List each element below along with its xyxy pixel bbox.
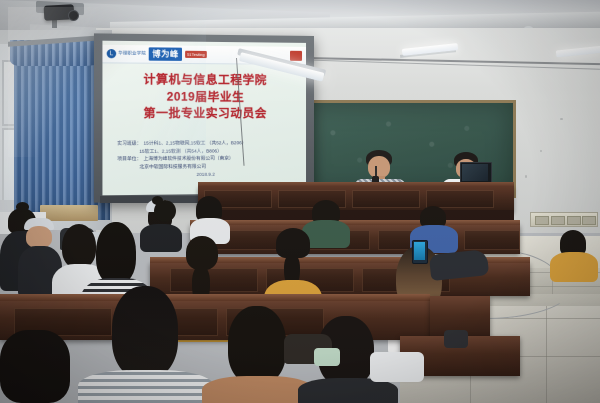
slide-body-value: 北京中软国际科技服务有限公司 [139,162,206,170]
socket-icon[interactable] [567,216,581,225]
wall-socket-strip[interactable] [530,212,598,227]
slide-body-label: 项目单位： [117,155,141,163]
slide-body-row: 北京中软国际科技服务有限公司 [117,162,298,171]
hair-long [62,224,96,268]
slide-body-label: 实习班级： [117,140,141,148]
slide-title-line-2: 2019届毕业生 [102,89,306,107]
partner-logo-label: 博为峰 [149,47,182,61]
hair [228,306,286,384]
slide-title-line-3: 第一批专业实习动员会 [102,106,306,123]
wall-speck [525,175,527,178]
socket-icon[interactable] [551,216,565,225]
head-table [198,186,514,212]
projector-lens-icon [68,10,79,21]
table-panel [352,190,420,208]
laptop-display [462,164,488,181]
slide-date: 2018.9.2 [102,171,306,178]
university-logo-mark: L [107,49,117,58]
slide-title-line-1: 计算机与信息工程学院 [102,72,306,90]
shoulders-yellow-top [550,252,598,282]
university-logo-label: 华理职业学院 [118,51,146,56]
bench-panel [464,230,520,250]
head [368,156,390,178]
hair-long [112,286,178,378]
lecture-hall-photo: L 华理职业学院 博为峰 51Testing 计算机与信息工程学院 2019届毕… [0,0,600,403]
hair-bun-icon [152,196,163,205]
partner-logo-sublabel: 51Testing [185,51,207,58]
hair-long [96,222,136,284]
head [26,226,52,248]
folded-cloth [314,348,340,366]
hair [186,236,218,270]
white-bag [370,352,424,382]
hair-bun-icon [16,202,29,212]
banner-right-mark [290,50,302,60]
socket-icon[interactable] [535,216,549,225]
slide-title: 计算机与信息工程学院 2019届毕业生 第一批专业实习动员会 [102,72,306,124]
wall-speck [560,118,563,120]
bench-top [190,220,520,225]
bench-top [0,294,430,301]
wall-speck [540,150,542,152]
bag-under-bench [444,330,468,348]
university-logo: L 华理职业学院 [107,49,146,59]
table-panel [426,190,494,208]
shoulders [140,224,182,252]
hair [0,330,70,403]
slide-body-value: 15计科1、2,15物联网,15软工 （共52人，B206） [143,139,246,147]
socket-icon[interactable] [582,216,596,225]
shoulders-striped-top [78,370,214,403]
slide-body: 实习班级： 15计科1、2,15物联网,15软工 （共52人，B206） 15软… [117,139,298,171]
bench-panel [170,268,258,292]
smartphone-screen [414,242,425,260]
